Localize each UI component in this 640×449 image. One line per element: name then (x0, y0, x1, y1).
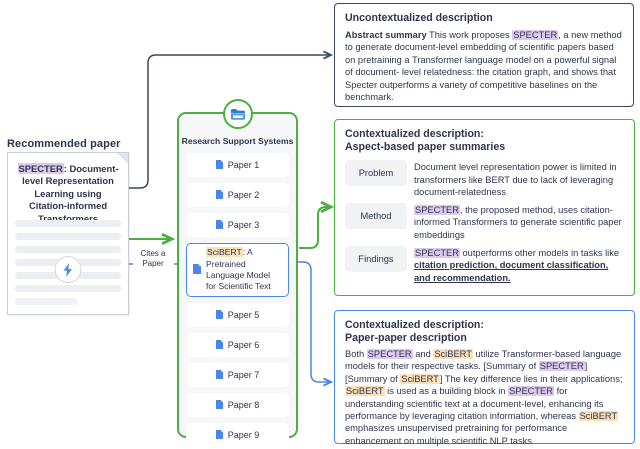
panel-title-line-1: Contextualized description: (345, 128, 625, 141)
list-item-paper-1[interactable]: Paper 1 (186, 153, 289, 177)
aspect-text-findings-emphasis: citation prediction, document classifica… (414, 260, 608, 283)
pp-t2: and (413, 349, 434, 359)
pp-t1: Both (345, 349, 367, 359)
highlight-scibert: SciBERT (433, 349, 473, 359)
skeleton-line (15, 233, 121, 240)
highlight-specter: SPECTER (512, 30, 558, 40)
panel-uncontextualized-description: Uncontextualized description Abstract su… (334, 3, 634, 107)
document-icon (216, 160, 223, 171)
highlight-specter: SPECTER (367, 349, 413, 359)
list-item-paper-6[interactable]: Paper 6 (186, 333, 289, 357)
diagram-canvas: Recommended paper SPECTER: Document-leve… (0, 0, 640, 449)
highlight-scibert: SciBERT (345, 386, 385, 396)
highlight-specter: SPECTER (508, 386, 554, 396)
aspect-text-findings-mid: outperforms other models in tasks like (460, 248, 619, 258)
skeleton-line (15, 285, 121, 292)
research-support-systems-group: Research Support Systems Paper 1 Paper 2… (177, 112, 298, 438)
highlight-scibert: SciBERT (400, 374, 440, 384)
folder-icon (223, 99, 253, 129)
list-item-paper-5[interactable]: Paper 5 (186, 303, 289, 327)
list-item-paper-2[interactable]: Paper 2 (186, 183, 289, 207)
recommended-paper-title: SPECTER: Document-level Representation L… (16, 163, 120, 225)
document-icon (216, 370, 223, 381)
aspect-row-findings: Findings SPECTER outperforms other model… (345, 246, 625, 285)
list-item-label: SciBERT: A Pretrained Language Model for… (206, 247, 282, 293)
recommended-paper-label: Recommended paper (7, 138, 121, 150)
skeleton-line (15, 298, 77, 305)
highlight-specter: SPECTER (18, 163, 64, 174)
pp-t8: emphasizes unsupervised pretraining for … (345, 423, 567, 445)
skeleton-line (15, 220, 121, 227)
highlight-specter: SPECTER (414, 248, 460, 258)
panel-body: Abstract summary This work proposes SPEC… (345, 29, 623, 103)
document-icon (216, 400, 223, 411)
edge-group-to-aspect (299, 207, 331, 248)
document-icon (216, 310, 223, 321)
aspect-row-method: Method SPECTER, the proposed method, use… (345, 203, 625, 242)
document-icon (216, 190, 223, 201)
list-item-label: Paper 8 (228, 400, 260, 410)
list-item-paper-7[interactable]: Paper 7 (186, 363, 289, 387)
aspect-text-problem: Document level representation power is l… (414, 160, 625, 199)
panel-title: Uncontextualized description (345, 12, 623, 25)
document-icon (216, 430, 223, 441)
pp-t6: is used as a building block in (385, 386, 509, 396)
list-item-label: Paper 9 (228, 430, 260, 440)
cites-a-paper-label: Cites a Paper (133, 249, 173, 269)
list-item-label: Paper 2 (228, 190, 260, 200)
highlight-specter: SPECTER (414, 205, 460, 215)
paper-list: Paper 1 Paper 2 Paper 3 SciBERT: A Pretr… (179, 153, 296, 447)
aspect-chip-method: Method (345, 203, 407, 229)
highlight-scibert: SciBERT (206, 247, 243, 257)
aspect-chip-findings: Findings (345, 246, 407, 272)
panel-aspect-based-summaries: Contextualized description: Aspect-based… (334, 119, 635, 296)
recommended-paper-card[interactable]: SPECTER: Document-level Representation L… (7, 152, 129, 315)
list-item-label: Paper 6 (228, 340, 260, 350)
abstract-summary-text-2: , a new method to generate document-leve… (345, 30, 622, 102)
document-icon (193, 264, 201, 276)
panel-title-line-1: Contextualized description: (345, 319, 624, 332)
pp-t5: ] The key difference lies in their appli… (440, 374, 623, 384)
aspect-row-problem: Problem Document level representation po… (345, 160, 625, 199)
document-icon (216, 340, 223, 351)
skeleton-line (15, 246, 121, 253)
highlight-scibert: SciBERT (579, 411, 619, 421)
lightning-bolt-icon (55, 256, 82, 283)
list-item-paper-3[interactable]: Paper 3 (186, 213, 289, 237)
list-item-paper-8[interactable]: Paper 8 (186, 393, 289, 417)
list-item-label: Paper 5 (228, 310, 260, 320)
abstract-summary-lead: Abstract summary (345, 30, 427, 40)
list-item-paper-9[interactable]: Paper 9 (186, 423, 289, 447)
aspect-text-findings: SPECTER outperforms other models in task… (414, 246, 625, 285)
list-item-scibert-selected[interactable]: SciBERT: A Pretrained Language Model for… (186, 243, 289, 297)
panel-paper-paper-description: Contextualized description: Paper-paper … (334, 310, 635, 444)
aspect-text-method: SPECTER, the proposed method, uses citat… (414, 203, 625, 242)
highlight-specter: SPECTER (539, 361, 585, 371)
document-icon (216, 220, 223, 231)
panel-body: Both SPECTER and SciBERT utilize Transfo… (345, 348, 624, 447)
group-title: Research Support Systems (179, 136, 296, 146)
panel-title-line-2: Paper-paper description (345, 332, 624, 345)
aspect-rows: Problem Document level representation po… (345, 160, 625, 284)
list-item-label: Paper 1 (228, 160, 260, 170)
abstract-summary-text-1: This work proposes (427, 30, 513, 40)
list-item-label: Paper 3 (228, 220, 260, 230)
aspect-chip-problem: Problem (345, 160, 407, 186)
list-item-label: Paper 7 (228, 370, 260, 380)
panel-title-line-2: Aspect-based paper summaries (345, 141, 625, 154)
